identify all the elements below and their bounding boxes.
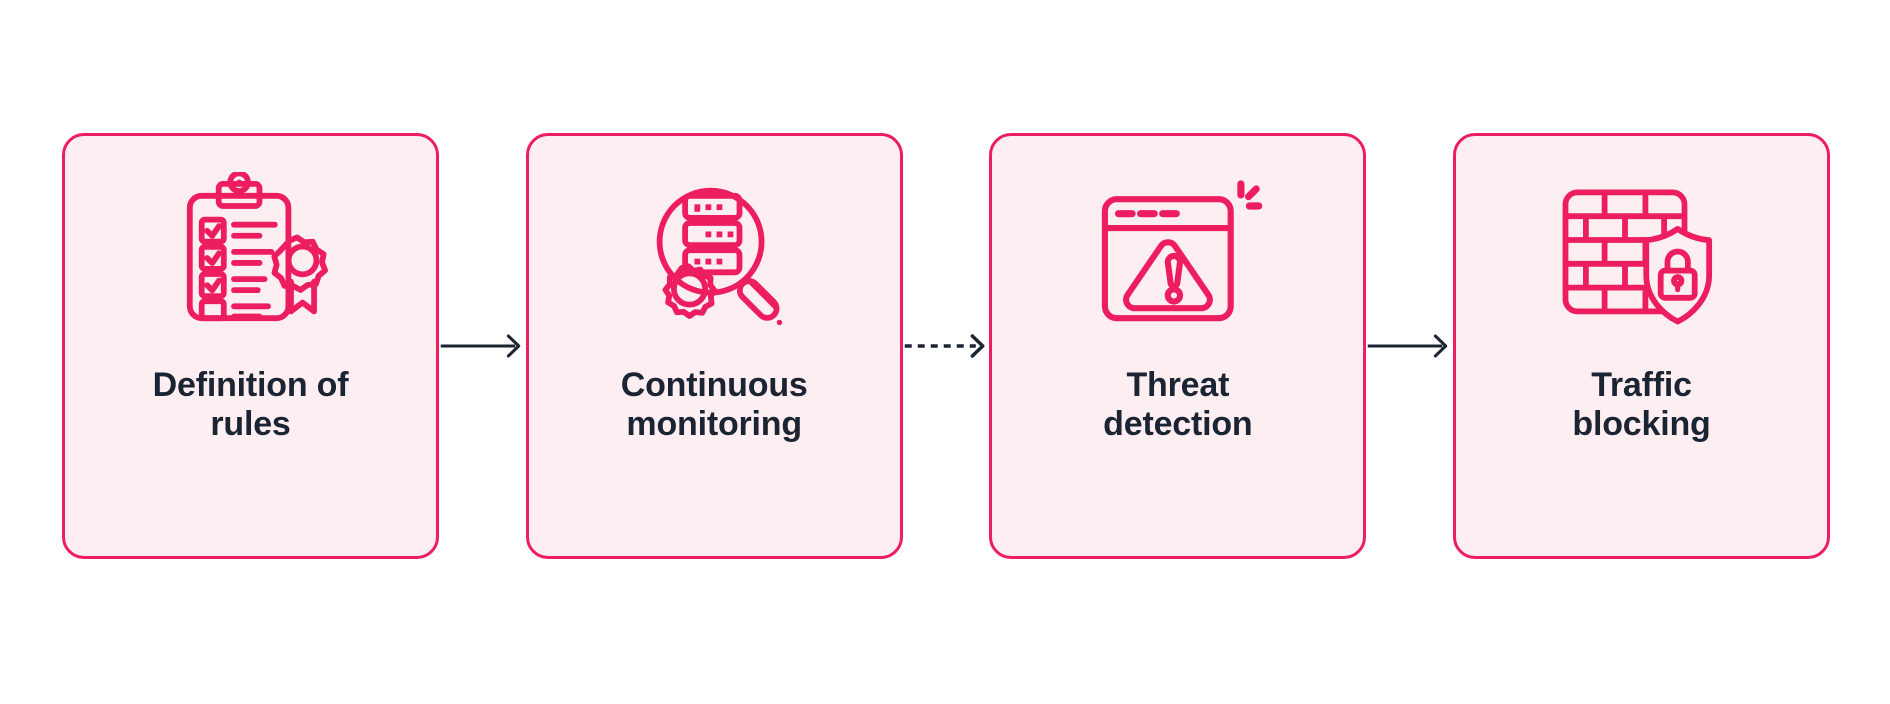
server-magnifier-gear-icon xyxy=(629,172,799,342)
connector-1-solid xyxy=(439,133,526,559)
connector-3-solid xyxy=(1366,133,1453,559)
connector-2-dashed xyxy=(903,133,990,559)
step-label-traffic-blocking: Traffic blocking xyxy=(1492,366,1792,444)
step-card-continuous-monitoring[interactable]: Continuous monitoring xyxy=(526,133,903,559)
arrow-right-icon xyxy=(439,326,526,366)
step-card-traffic-blocking[interactable]: Traffic blocking xyxy=(1453,133,1830,559)
flow-track: Definition of rules xyxy=(62,133,1830,559)
flow-diagram-root: Definition of rules xyxy=(0,0,1890,704)
arrow-right-icon xyxy=(1366,326,1453,366)
step-label-definition-of-rules: Definition of rules xyxy=(101,366,401,444)
step-card-threat-detection[interactable]: Threat detection xyxy=(989,133,1366,559)
browser-warning-alert-icon xyxy=(1093,172,1263,342)
firewall-shield-lock-icon xyxy=(1557,172,1727,342)
step-label-threat-detection: Threat detection xyxy=(1028,366,1328,444)
step-label-continuous-monitoring: Continuous monitoring xyxy=(564,366,864,444)
arrow-right-dashed-icon xyxy=(903,326,990,366)
step-card-definition-of-rules[interactable]: Definition of rules xyxy=(62,133,439,559)
clipboard-checklist-badge-icon xyxy=(166,172,336,342)
